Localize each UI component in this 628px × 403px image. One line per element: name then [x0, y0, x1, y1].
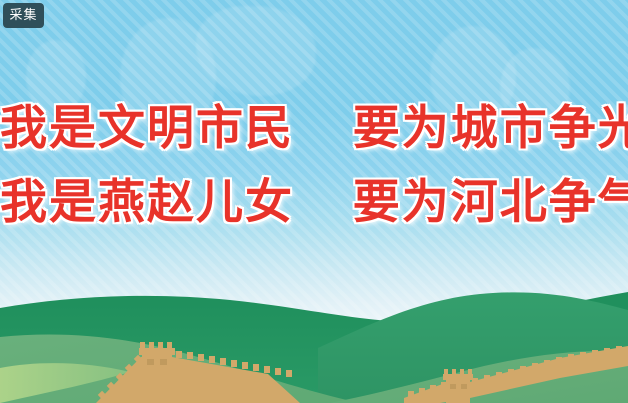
great-wall-watchtower-left [139, 342, 175, 392]
slogan-line-1-left: 我是文明市民 [0, 101, 294, 156]
slogan-line-1: 我是文明市民 要为城市争光 [0, 92, 628, 166]
poster-stage: 我是文明市民 要为城市争光 我是燕赵儿女 要为河北争气 采集 [0, 0, 628, 403]
slogan-headline: 我是文明市民 要为城市争光 我是燕赵儿女 要为河北争气 [0, 92, 628, 240]
slogan-line-2-left: 我是燕赵儿女 [0, 175, 294, 230]
great-wall-watchtower-right [443, 369, 473, 403]
slogan-line-2: 我是燕赵儿女 要为河北争气 [0, 166, 628, 240]
slogan-line-1-right: 要为城市争光 [353, 101, 628, 156]
slogan-line-2-right: 要为河北争气 [353, 175, 628, 230]
capture-button[interactable]: 采集 [3, 3, 44, 28]
